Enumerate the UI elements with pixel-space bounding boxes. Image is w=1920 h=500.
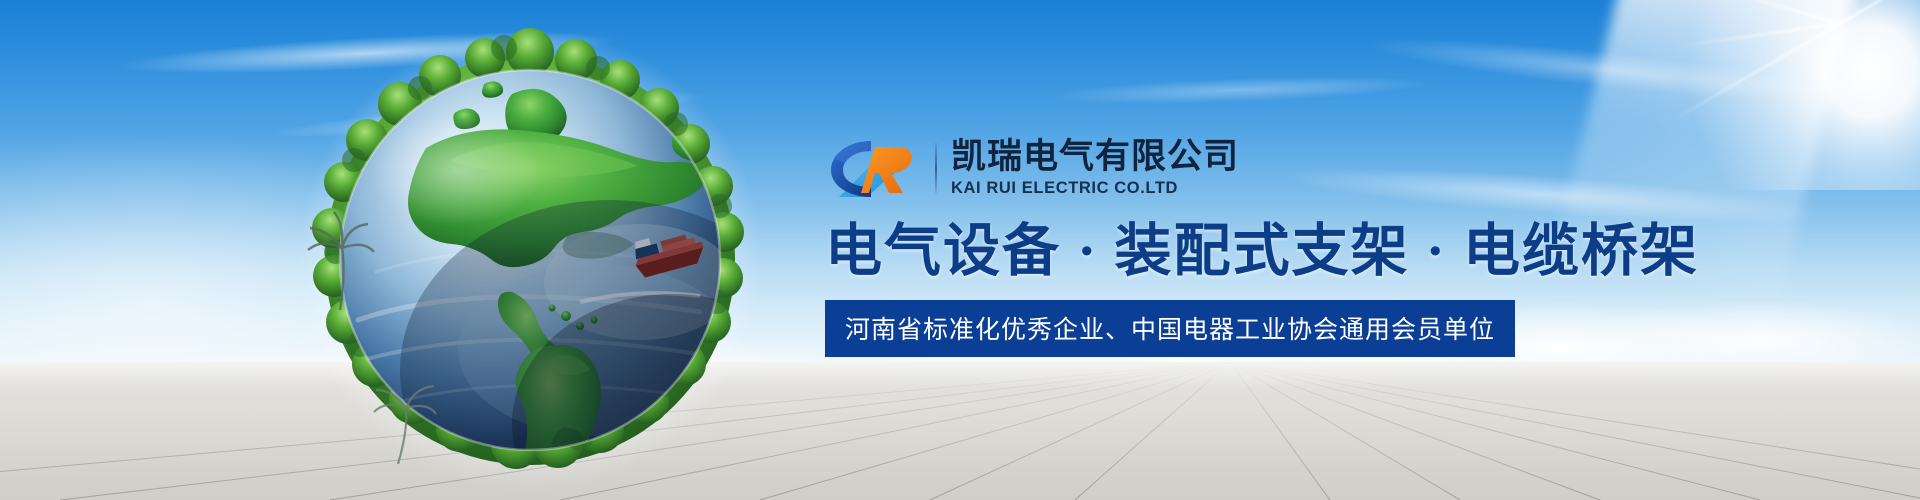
hero-banner: 凯瑞电气有限公司 KAI RUI ELECTRIC CO.LTD 电气设备 · … xyxy=(0,0,1920,500)
brand-lockup: 凯瑞电气有限公司 KAI RUI ELECTRIC CO.LTD xyxy=(825,132,1725,204)
banner-content: 凯瑞电气有限公司 KAI RUI ELECTRIC CO.LTD 电气设备 · … xyxy=(825,132,1725,357)
cr-monogram-logo-icon xyxy=(825,135,929,201)
credential-ribbon: 河南省标准化优秀企业、中国电器工业协会通用会员单位 xyxy=(825,300,1515,357)
company-name-en: KAI RUI ELECTRIC CO.LTD xyxy=(951,179,1239,198)
green-earth-globe-icon xyxy=(280,20,780,500)
headline-text: 电气设备 · 装配式支架 · 电缆桥架 xyxy=(825,220,1725,284)
company-name-cn: 凯瑞电气有限公司 xyxy=(951,138,1239,175)
brand-divider xyxy=(935,143,937,193)
brand-names: 凯瑞电气有限公司 KAI RUI ELECTRIC CO.LTD xyxy=(951,138,1239,198)
